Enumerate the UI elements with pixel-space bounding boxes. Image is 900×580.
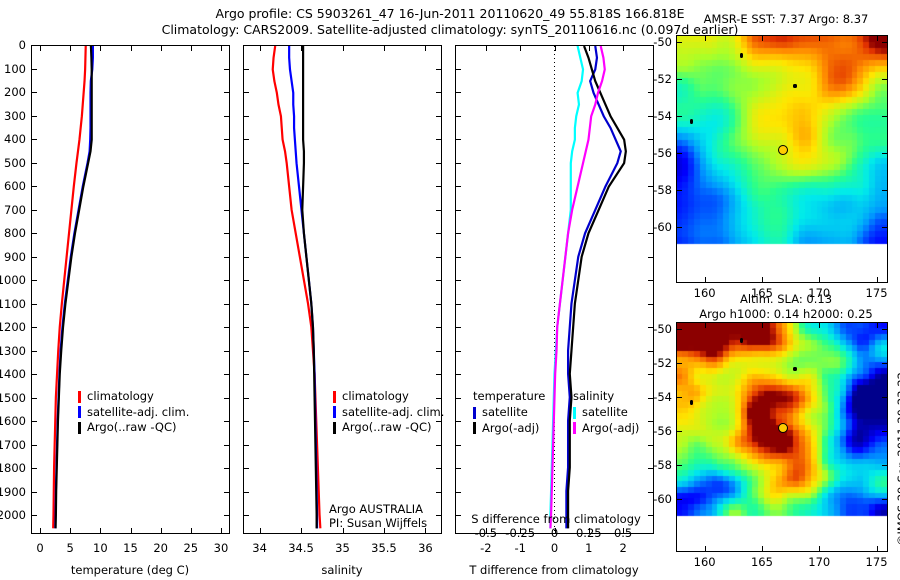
legend-header-salinity: salinity — [573, 389, 614, 405]
depth-tick-mark-right — [224, 515, 230, 516]
temperature-tick-mark-top — [191, 45, 192, 51]
lon-tick-mark-top — [762, 322, 763, 328]
lon-tick-mark-top — [762, 35, 763, 41]
depth-tick-mark — [31, 445, 37, 446]
depth-tick-label: 300 — [4, 109, 26, 123]
depth-tick-mark-right — [224, 186, 230, 187]
legend-label: Argo(..raw -QC) — [342, 420, 432, 436]
depth-tick-mark — [455, 304, 461, 305]
depth-tick-label: 1500 — [0, 391, 26, 405]
lat-tick-mark-right — [882, 363, 888, 364]
depth-tick-label: 1300 — [0, 344, 26, 358]
depth-tick-label: 700 — [4, 203, 26, 217]
depth-tick-mark — [31, 257, 37, 258]
depth-tick-mark-right — [224, 445, 230, 446]
lat-tick-label: -56 — [653, 424, 672, 438]
legend-swatch-argo-raw — [78, 422, 81, 434]
depth-tick-mark-right — [224, 492, 230, 493]
lat-tick-mark-right — [882, 116, 888, 117]
lat-tick-mark-right — [882, 465, 888, 466]
salinity-tick-mark — [301, 528, 302, 534]
sst-map-title: AMSR-E SST: 7.37 Argo: 8.37 — [704, 12, 869, 26]
salinity-profile-panel — [243, 45, 442, 534]
legend-label: climatology — [87, 389, 154, 405]
lon-tick-mark — [877, 546, 878, 552]
salinity-tick-mark — [260, 528, 261, 534]
depth-tick-mark — [243, 186, 249, 187]
salinity-tick-label: 35.5 — [371, 541, 397, 555]
lat-tick-mark — [676, 465, 682, 466]
depth-tick-label: 500 — [4, 156, 26, 170]
temperature-tick-mark — [191, 528, 192, 534]
depth-tick-mark — [455, 92, 461, 93]
salinity-tick-mark-top — [343, 45, 344, 51]
depth-tick-label: 2000 — [0, 508, 26, 522]
depth-tick-mark — [243, 515, 249, 516]
depth-tick-label: 1600 — [0, 414, 26, 428]
temperature-tick-mark — [131, 528, 132, 534]
depth-tick-label: 1800 — [0, 461, 26, 475]
lat-tick-label: -50 — [653, 35, 672, 49]
lat-tick-mark — [676, 116, 682, 117]
depth-tick-mark — [243, 492, 249, 493]
salinity-tick-mark-top — [425, 45, 426, 51]
legend-swatch-sal-argo — [573, 422, 576, 434]
lat-tick-mark — [676, 329, 682, 330]
s-difference-tick-label: 0.25 — [576, 526, 602, 540]
depth-tick-mark-right — [224, 233, 230, 234]
panel1-xlabel: temperature (deg C) — [71, 563, 189, 577]
page-title-line2: Climatology: CARS2009. Satellite-adjuste… — [162, 22, 739, 37]
legend-item: Argo(-adj) Argo(-adj) — [473, 421, 639, 437]
depth-tick-mark-right — [648, 351, 654, 352]
depth-tick-mark — [31, 398, 37, 399]
depth-tick-mark-right — [436, 186, 442, 187]
depth-tick-mark — [243, 210, 249, 211]
page-title-line1: Argo profile: CS 5903261_47 16-Jun-2011 … — [215, 6, 684, 21]
difference-profile-panel — [455, 45, 654, 534]
lon-tick-mark — [705, 277, 706, 283]
legend-swatch-temp-satellite — [473, 407, 476, 419]
depth-tick-mark-right — [224, 210, 230, 211]
lon-tick-mark — [705, 546, 706, 552]
lat-tick-mark — [676, 499, 682, 500]
legend-item: Argo(..raw -QC) — [78, 420, 189, 436]
depth-tick-mark-right — [224, 280, 230, 281]
depth-tick-mark — [455, 186, 461, 187]
depth-tick-mark — [243, 280, 249, 281]
lat-tick-mark-right — [882, 190, 888, 191]
depth-tick-mark — [455, 69, 461, 70]
depth-tick-mark — [243, 351, 249, 352]
lat-tick-label: -52 — [653, 72, 672, 86]
depth-tick-mark-right — [224, 45, 230, 46]
legend-swatch-argo-raw — [333, 422, 336, 434]
depth-tick-mark-right — [648, 92, 654, 93]
lon-tick-mark-top — [877, 35, 878, 41]
depth-tick-mark-right — [436, 45, 442, 46]
depth-tick-mark-right — [436, 492, 442, 493]
credit-line2: PI: Susan Wijffels — [329, 516, 427, 530]
lon-tick-label: 160 — [694, 555, 716, 569]
profile-line-satellite-adj-clim- — [55, 46, 93, 528]
temperature-tick-mark-top — [161, 45, 162, 51]
salinity-tick-label: 34.5 — [288, 541, 314, 555]
depth-tick-mark-right — [436, 280, 442, 281]
depth-tick-mark — [243, 468, 249, 469]
sla-map-title-line1: Altim. SLA: 0.13 — [740, 292, 832, 306]
temperature-tick-mark-top — [40, 45, 41, 51]
depth-tick-label: 0 — [19, 38, 26, 52]
depth-tick-mark — [455, 257, 461, 258]
profile-line-argo-raw-qc- — [56, 46, 92, 528]
legend-label: satellite-adj. clim. — [342, 405, 444, 421]
s-difference-tick-label: -0.25 — [505, 526, 535, 540]
depth-tick-label: 900 — [4, 250, 26, 264]
depth-tick-mark-right — [436, 69, 442, 70]
profile-curves — [32, 46, 229, 533]
profile-position-marker — [778, 145, 788, 155]
legend-item: climatology — [78, 389, 189, 405]
depth-tick-mark — [31, 492, 37, 493]
t-difference-tick-label: -1 — [514, 541, 525, 555]
panel1-legend: climatology satellite-adj. clim. Argo(..… — [78, 389, 189, 436]
depth-tick-mark — [243, 233, 249, 234]
lat-tick-label: -60 — [653, 492, 672, 506]
depth-tick-mark — [455, 327, 461, 328]
temperature-tick-mark — [40, 528, 41, 534]
temperature-tick-label: 15 — [123, 541, 138, 555]
lat-tick-label: -58 — [653, 458, 672, 472]
depth-tick-mark-right — [224, 421, 230, 422]
lon-tick-mark-top — [819, 322, 820, 328]
depth-tick-mark-right — [436, 233, 442, 234]
depth-tick-mark — [243, 445, 249, 446]
legend-swatch-satellite-adj — [333, 406, 336, 418]
depth-tick-mark-right — [436, 92, 442, 93]
depth-tick-mark — [455, 116, 461, 117]
land-speck — [690, 400, 693, 405]
depth-tick-label: 1000 — [0, 273, 26, 287]
depth-tick-mark — [31, 45, 37, 46]
depth-tick-mark — [455, 163, 461, 164]
depth-tick-mark — [31, 280, 37, 281]
lon-tick-mark — [819, 546, 820, 552]
depth-tick-mark — [31, 421, 37, 422]
depth-tick-mark-right — [648, 374, 654, 375]
depth-tick-mark — [455, 45, 461, 46]
s-difference-tick-label: -0.5 — [475, 526, 497, 540]
temperature-tick-label: 30 — [214, 541, 229, 555]
legend-header-temperature: temperature — [473, 389, 573, 405]
profile-line-climatology — [273, 46, 321, 528]
lat-tick-mark-right — [882, 227, 888, 228]
lat-tick-label: -58 — [653, 183, 672, 197]
depth-tick-label: 200 — [4, 85, 26, 99]
depth-tick-mark — [31, 304, 37, 305]
depth-tick-mark — [243, 69, 249, 70]
depth-tick-mark-right — [648, 280, 654, 281]
land-speck — [690, 119, 693, 124]
legend-swatch-satellite-adj — [78, 406, 81, 418]
lat-tick-mark-right — [882, 153, 888, 154]
depth-tick-mark — [31, 374, 37, 375]
argo-australia-credit: Argo AUSTRALIA PI: Susan Wijffels — [329, 502, 427, 530]
legend-label: satellite-adj. clim. — [87, 405, 189, 421]
depth-tick-mark — [243, 374, 249, 375]
profile-curves — [244, 46, 441, 533]
depth-tick-mark — [31, 327, 37, 328]
profile-curves — [456, 46, 653, 533]
legend-item: satellite-adj. clim. — [78, 405, 189, 421]
lon-tick-mark-top — [705, 322, 706, 328]
temperature-profile-panel — [31, 45, 230, 534]
depth-tick-mark-right — [648, 304, 654, 305]
lat-tick-mark-right — [882, 42, 888, 43]
legend-headers: temperature salinity — [473, 389, 639, 405]
depth-tick-mark — [455, 468, 461, 469]
depth-tick-mark — [455, 492, 461, 493]
depth-tick-mark — [455, 421, 461, 422]
depth-tick-mark — [455, 139, 461, 140]
depth-tick-mark-right — [436, 327, 442, 328]
depth-tick-mark — [31, 163, 37, 164]
depth-tick-mark — [31, 92, 37, 93]
sla-field-raster — [677, 323, 887, 551]
depth-tick-mark-right — [436, 163, 442, 164]
legend-label: Argo(..raw -QC) — [87, 420, 177, 436]
depth-tick-mark-right — [648, 515, 654, 516]
depth-tick-mark — [243, 139, 249, 140]
t-difference-tick-mark-top — [555, 45, 556, 51]
depth-tick-mark — [31, 210, 37, 211]
legend-swatch-climatology — [78, 391, 81, 403]
depth-tick-mark — [455, 398, 461, 399]
temperature-tick-mark — [161, 528, 162, 534]
depth-tick-mark — [243, 304, 249, 305]
depth-tick-mark — [243, 45, 249, 46]
lat-tick-mark-right — [882, 397, 888, 398]
panel2-legend: climatology satellite-adj. clim. Argo(..… — [333, 389, 444, 436]
depth-tick-label: 100 — [4, 62, 26, 76]
depth-tick-mark-right — [436, 351, 442, 352]
lon-tick-mark — [762, 546, 763, 552]
legend-label: climatology — [342, 389, 409, 405]
panel3-legend: temperature salinity satellite satellite… — [473, 389, 639, 436]
depth-tick-mark-right — [224, 163, 230, 164]
depth-tick-mark — [455, 233, 461, 234]
lat-tick-label: -50 — [653, 322, 672, 336]
depth-tick-label: 400 — [4, 132, 26, 146]
depth-tick-mark — [31, 139, 37, 140]
lat-tick-mark — [676, 431, 682, 432]
depth-tick-mark-right — [648, 257, 654, 258]
lat-tick-mark-right — [882, 431, 888, 432]
legend-label: satellite — [482, 405, 528, 421]
lat-tick-mark — [676, 153, 682, 154]
depth-tick-label: 1400 — [0, 367, 26, 381]
sla-map-panel — [676, 322, 888, 552]
temperature-tick-label: 20 — [153, 541, 168, 555]
lon-tick-label: 175 — [866, 555, 888, 569]
depth-tick-mark — [455, 515, 461, 516]
depth-tick-mark-right — [648, 445, 654, 446]
lat-tick-mark — [676, 397, 682, 398]
depth-tick-mark-right — [436, 445, 442, 446]
land-speck — [793, 367, 797, 371]
legend-label: satellite — [582, 405, 628, 421]
depth-tick-mark-right — [436, 374, 442, 375]
lat-tick-mark — [676, 79, 682, 80]
lat-tick-mark — [676, 227, 682, 228]
legend-label: Argo(-adj) — [582, 421, 639, 437]
salinity-tick-mark-top — [301, 45, 302, 51]
t-difference-tick-mark-top — [589, 45, 590, 51]
lon-tick-mark-top — [819, 35, 820, 41]
depth-tick-mark — [31, 233, 37, 234]
depth-tick-mark — [243, 327, 249, 328]
sst-field-raster — [677, 36, 887, 282]
s-difference-tick-label: 0 — [551, 526, 558, 540]
depth-tick-mark-right — [224, 139, 230, 140]
lon-tick-mark — [762, 277, 763, 283]
depth-tick-mark — [455, 210, 461, 211]
sla-map-title-line2: Argo h1000: 0.14 h2000: 0.25 — [699, 307, 872, 321]
lat-tick-mark-right — [882, 499, 888, 500]
depth-tick-mark-right — [436, 116, 442, 117]
depth-tick-mark — [455, 374, 461, 375]
temperature-tick-mark — [221, 528, 222, 534]
lat-tick-label: -52 — [653, 356, 672, 370]
depth-tick-mark-right — [648, 139, 654, 140]
temperature-tick-label: 10 — [93, 541, 108, 555]
depth-tick-mark-right — [648, 69, 654, 70]
depth-tick-mark — [31, 468, 37, 469]
temperature-tick-label: 25 — [183, 541, 198, 555]
temperature-tick-mark-top — [100, 45, 101, 51]
lat-tick-mark-right — [882, 329, 888, 330]
land-speck — [793, 84, 797, 88]
depth-tick-mark-right — [224, 69, 230, 70]
legend-swatch-temp-argo — [473, 422, 476, 434]
depth-tick-mark — [31, 186, 37, 187]
panel3-xlabel-bottom: T difference from climatology — [469, 563, 638, 577]
t-difference-tick-label: 2 — [619, 541, 626, 555]
t-difference-tick-mark-top — [486, 45, 487, 51]
depth-tick-mark-right — [224, 374, 230, 375]
depth-tick-mark-right — [224, 257, 230, 258]
lon-tick-mark-top — [877, 322, 878, 328]
temperature-tick-mark — [70, 528, 71, 534]
depth-tick-mark — [455, 445, 461, 446]
depth-tick-mark — [243, 163, 249, 164]
depth-tick-mark-right — [224, 351, 230, 352]
depth-tick-mark-right — [224, 116, 230, 117]
depth-tick-mark-right — [436, 304, 442, 305]
land-speck — [740, 53, 743, 58]
lat-tick-label: -54 — [653, 109, 672, 123]
lon-tick-label: 175 — [866, 286, 888, 300]
depth-tick-mark — [31, 69, 37, 70]
legend-item: Argo(..raw -QC) — [333, 420, 444, 436]
salinity-tick-mark-top — [384, 45, 385, 51]
t-difference-tick-label: 1 — [585, 541, 592, 555]
lon-tick-label: 160 — [694, 286, 716, 300]
temperature-tick-mark-top — [131, 45, 132, 51]
panel3-xlabel-top: S difference from climatology — [471, 512, 641, 526]
depth-tick-mark — [31, 515, 37, 516]
depth-tick-label: 1700 — [0, 438, 26, 452]
t-difference-tick-label: 0 — [551, 541, 558, 555]
lat-tick-label: -56 — [653, 146, 672, 160]
lon-tick-mark — [819, 277, 820, 283]
lon-tick-mark — [877, 277, 878, 283]
depth-tick-mark — [243, 92, 249, 93]
depth-tick-mark-right — [224, 327, 230, 328]
temperature-tick-label: 5 — [67, 541, 74, 555]
depth-tick-mark-right — [224, 398, 230, 399]
depth-tick-mark — [243, 116, 249, 117]
depth-tick-mark-right — [436, 257, 442, 258]
temperature-tick-mark — [100, 528, 101, 534]
lon-tick-label: 170 — [808, 555, 830, 569]
lon-tick-label: 165 — [751, 555, 773, 569]
depth-tick-mark — [243, 398, 249, 399]
depth-tick-label: 600 — [4, 179, 26, 193]
depth-tick-mark-right — [648, 421, 654, 422]
depth-tick-mark-right — [436, 139, 442, 140]
depth-tick-mark-right — [648, 163, 654, 164]
t-difference-tick-label: -2 — [480, 541, 491, 555]
depth-tick-mark — [243, 257, 249, 258]
lat-tick-mark — [676, 190, 682, 191]
depth-tick-mark-right — [224, 92, 230, 93]
legend-swatch-sal-satellite — [573, 407, 576, 419]
depth-tick-mark — [455, 351, 461, 352]
sst-map-panel — [676, 35, 888, 283]
temperature-tick-mark-top — [70, 45, 71, 51]
imos-copyright: ©IMOS 29-Sep-2011 20:23:22 — [895, 372, 900, 546]
temperature-tick-mark-top — [221, 45, 222, 51]
lon-tick-mark-top — [705, 35, 706, 41]
depth-tick-label: 1200 — [0, 320, 26, 334]
panel2-xlabel: salinity — [321, 563, 362, 577]
salinity-tick-label: 34 — [252, 541, 267, 555]
t-difference-tick-mark-top — [623, 45, 624, 51]
depth-tick-label: 800 — [4, 226, 26, 240]
lat-tick-label: -54 — [653, 390, 672, 404]
t-difference-tick-mark-top — [520, 45, 521, 51]
legend-label: Argo(-adj) — [482, 421, 539, 437]
lat-tick-mark — [676, 363, 682, 364]
salinity-tick-label: 35 — [335, 541, 350, 555]
lat-tick-mark-right — [882, 79, 888, 80]
credit-line1: Argo AUSTRALIA — [329, 502, 427, 516]
lat-tick-mark — [676, 42, 682, 43]
depth-tick-mark — [455, 280, 461, 281]
depth-tick-mark — [31, 351, 37, 352]
legend-item: satellite satellite — [473, 405, 639, 421]
depth-tick-mark-right — [436, 515, 442, 516]
depth-tick-mark — [31, 116, 37, 117]
depth-tick-mark-right — [436, 210, 442, 211]
legend-item: satellite-adj. clim. — [333, 405, 444, 421]
depth-tick-mark-right — [436, 468, 442, 469]
depth-tick-mark-right — [224, 304, 230, 305]
legend-swatch-climatology — [333, 391, 336, 403]
s-difference-tick-label: 0.5 — [614, 526, 632, 540]
temperature-tick-label: 0 — [36, 541, 43, 555]
